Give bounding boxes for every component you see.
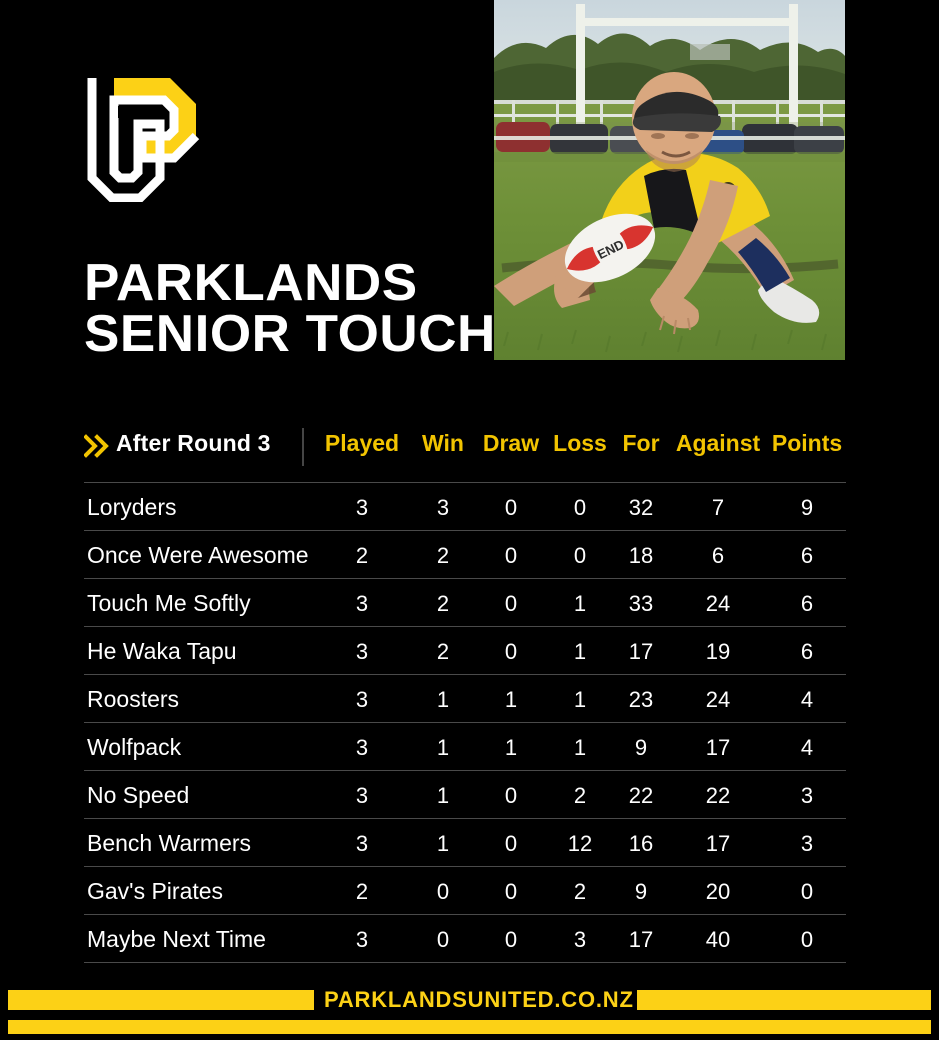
cell-win: 0: [437, 879, 449, 905]
cell-played: 3: [356, 927, 368, 953]
cell-points: 6: [801, 639, 813, 665]
title-line-2: SENIOR TOUCH: [84, 309, 492, 360]
cell-played: 3: [356, 735, 368, 761]
cell-loss: 2: [574, 879, 586, 905]
website-url[interactable]: PARKLANDSUNITED.CO.NZ: [324, 987, 628, 1013]
cell-win: 1: [437, 735, 449, 761]
cell-played: 2: [356, 879, 368, 905]
cell-played: 3: [356, 591, 368, 617]
cell-draw: 0: [505, 831, 517, 857]
cell-points: 4: [801, 687, 813, 713]
cell-loss: 0: [574, 495, 586, 521]
column-header-against: Against: [676, 430, 760, 457]
cell-loss: 1: [574, 687, 586, 713]
cell-win: 2: [437, 639, 449, 665]
footer-bar-bottom: [8, 1020, 931, 1034]
cell-for: 18: [629, 543, 653, 569]
cell-played: 3: [356, 495, 368, 521]
cell-draw: 0: [505, 591, 517, 617]
touch-rugby-photo-illustration: END: [494, 0, 845, 360]
cell-points: 3: [801, 831, 813, 857]
footer-bar-left: [8, 990, 314, 1010]
cell-draw: 1: [505, 735, 517, 761]
cell-loss: 12: [568, 831, 592, 857]
cell-against: 17: [706, 735, 730, 761]
footer: PARKLANDSUNITED.CO.NZ: [0, 972, 939, 1040]
cell-played: 3: [356, 783, 368, 809]
cell-loss: 0: [574, 543, 586, 569]
parklands-p-monogram-icon: [84, 74, 206, 202]
cell-loss: 2: [574, 783, 586, 809]
team-name: Bench Warmers: [87, 830, 251, 857]
cell-for: 17: [629, 927, 653, 953]
parklands-logo: [84, 74, 206, 202]
table-row: No Speed310222223: [84, 770, 846, 818]
column-header-played: Played: [325, 430, 399, 457]
cell-for: 9: [635, 879, 647, 905]
cell-draw: 0: [505, 495, 517, 521]
cell-draw: 0: [505, 639, 517, 665]
column-header-points: Points: [772, 430, 842, 457]
table-row: Touch Me Softly320133246: [84, 578, 846, 626]
team-name: He Waka Tapu: [87, 638, 237, 665]
cell-against: 20: [706, 879, 730, 905]
team-name: Touch Me Softly: [87, 590, 251, 617]
cell-played: 3: [356, 639, 368, 665]
team-name: Loryders: [87, 494, 176, 521]
cell-for: 23: [629, 687, 653, 713]
cell-against: 7: [712, 495, 724, 521]
cell-win: 3: [437, 495, 449, 521]
table-row: He Waka Tapu320117196: [84, 626, 846, 674]
column-header-for: For: [622, 430, 659, 457]
team-name: Wolfpack: [87, 734, 181, 761]
column-header-draw: Draw: [483, 430, 539, 457]
cell-for: 9: [635, 735, 647, 761]
cell-loss: 1: [574, 735, 586, 761]
cell-loss: 3: [574, 927, 586, 953]
cell-draw: 0: [505, 543, 517, 569]
cell-loss: 1: [574, 591, 586, 617]
cell-draw: 0: [505, 783, 517, 809]
cell-against: 17: [706, 831, 730, 857]
page-title: PARKLANDS SENIOR TOUCH: [84, 258, 484, 360]
team-name: No Speed: [87, 782, 189, 809]
cell-win: 1: [437, 687, 449, 713]
cell-win: 0: [437, 927, 449, 953]
round-label: After Round 3: [116, 430, 271, 457]
cell-points: 6: [801, 591, 813, 617]
cell-draw: 1: [505, 687, 517, 713]
cell-win: 1: [437, 783, 449, 809]
footer-bar-right: [637, 990, 931, 1010]
cell-against: 6: [712, 543, 724, 569]
cell-for: 32: [629, 495, 653, 521]
cell-played: 3: [356, 831, 368, 857]
table-row: Bench Warmers3101216173: [84, 818, 846, 866]
table-row: Once Were Awesome22001866: [84, 530, 846, 578]
cell-played: 3: [356, 687, 368, 713]
cell-against: 24: [706, 687, 730, 713]
cell-win: 1: [437, 831, 449, 857]
cell-against: 22: [706, 783, 730, 809]
table-row: Roosters311123244: [84, 674, 846, 722]
cell-for: 17: [629, 639, 653, 665]
cell-win: 2: [437, 543, 449, 569]
cell-against: 24: [706, 591, 730, 617]
cell-points: 9: [801, 495, 813, 521]
cell-against: 19: [706, 639, 730, 665]
cell-for: 16: [629, 831, 653, 857]
cell-points: 0: [801, 879, 813, 905]
standings-poster: PARKLANDS SENIOR TOUCH: [0, 0, 939, 1040]
title-line-1: PARKLANDS: [84, 258, 492, 309]
table-header: After Round 3 Played Win Draw Loss For A…: [84, 428, 846, 468]
cell-win: 2: [437, 591, 449, 617]
cell-for: 33: [629, 591, 653, 617]
hero-photo: END: [494, 0, 845, 360]
header-divider: [302, 428, 304, 466]
cell-points: 0: [801, 927, 813, 953]
cell-loss: 1: [574, 639, 586, 665]
team-name: Maybe Next Time: [87, 926, 266, 953]
cell-draw: 0: [505, 879, 517, 905]
cell-points: 3: [801, 783, 813, 809]
cell-points: 6: [801, 543, 813, 569]
cell-played: 2: [356, 543, 368, 569]
team-name: Roosters: [87, 686, 179, 713]
column-header-win: Win: [422, 430, 464, 457]
cell-against: 40: [706, 927, 730, 953]
cell-points: 4: [801, 735, 813, 761]
cell-draw: 0: [505, 927, 517, 953]
double-chevron-right-icon: [84, 433, 110, 459]
standings-table: Loryders33003279Once Were Awesome2200186…: [84, 482, 846, 963]
team-name: Gav's Pirates: [87, 878, 223, 905]
table-row: Gav's Pirates20029200: [84, 866, 846, 914]
cell-for: 22: [629, 783, 653, 809]
table-row: Maybe Next Time300317400: [84, 914, 846, 963]
table-row: Loryders33003279: [84, 482, 846, 530]
team-name: Once Were Awesome: [87, 542, 309, 569]
table-row: Wolfpack31119174: [84, 722, 846, 770]
column-header-loss: Loss: [553, 430, 607, 457]
